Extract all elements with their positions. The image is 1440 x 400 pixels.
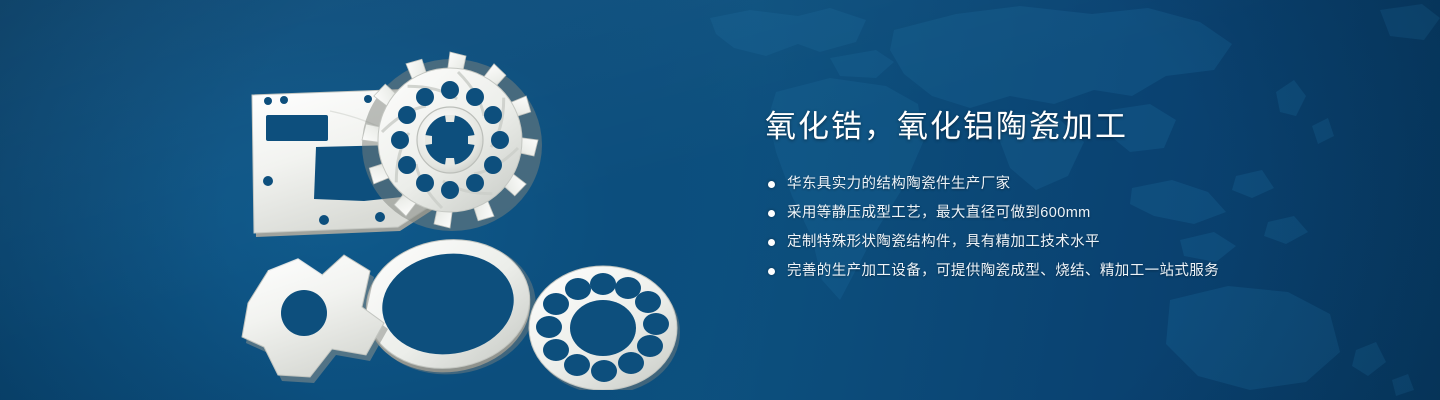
feature-list: 华东具实力的结构陶瓷件生产厂家 采用等静压成型工艺，最大直径可做到600mm 定… [765,173,1365,282]
page-title: 氧化锆，氧化铝陶瓷加工 [765,108,1365,147]
list-item: 华东具实力的结构陶瓷件生产厂家 [765,173,1365,195]
hero-banner: 氧化锆，氧化铝陶瓷加工 华东具实力的结构陶瓷件生产厂家 采用等静压成型工艺，最大… [0,0,1440,400]
bullet-dot-icon [768,181,775,188]
ceramic-cross-plate [242,255,388,383]
bullet-dot-icon [768,268,775,275]
ceramic-impeller [362,52,542,231]
list-item-label: 定制特殊形状陶瓷结构件，具有精加工技术水平 [787,234,1100,250]
list-item: 完善的生产加工设备，可提供陶瓷成型、烧结、精加工一站式服务 [765,260,1365,282]
bullet-dot-icon [768,239,775,246]
ceramic-holed-disc [529,266,680,390]
list-item-label: 完善的生产加工设备，可提供陶瓷成型、烧结、精加工一站式服务 [787,263,1219,279]
list-item: 定制特殊形状陶瓷结构件，具有精加工技术水平 [765,231,1365,253]
ceramic-parts-photo [230,45,730,390]
list-item: 采用等静压成型工艺，最大直径可做到600mm [765,202,1365,224]
bullet-dot-icon [768,210,775,217]
list-item-label: 华东具实力的结构陶瓷件生产厂家 [787,176,1011,192]
banner-copy: 氧化锆，氧化铝陶瓷加工 华东具实力的结构陶瓷件生产厂家 采用等静压成型工艺，最大… [765,108,1365,289]
list-item-label: 采用等静压成型工艺，最大直径可做到600mm [787,205,1091,221]
ceramic-ring [358,229,544,385]
